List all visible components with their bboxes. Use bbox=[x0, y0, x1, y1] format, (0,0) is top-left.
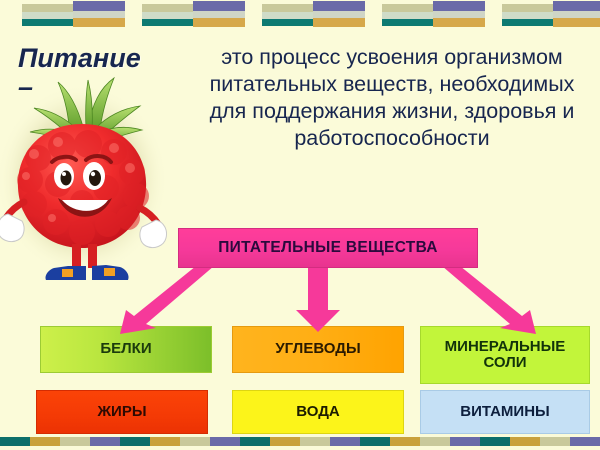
category-label-line2: СОЛИ bbox=[483, 354, 526, 371]
arrow-down-left-icon bbox=[120, 266, 214, 334]
category-label: БЕЛКИ bbox=[100, 341, 151, 357]
category-label: ВИТАМИНЫ bbox=[460, 404, 549, 420]
connector-arrows bbox=[0, 258, 600, 334]
border-tile bbox=[0, 437, 120, 446]
slide-title-block: Питание – bbox=[18, 44, 186, 101]
category-box-fats[interactable]: ЖИРЫ bbox=[36, 390, 208, 434]
category-box-mineral-salts[interactable]: МИНЕРАЛЬНЫЕ СОЛИ bbox=[420, 326, 590, 384]
category-box-vitamins[interactable]: ВИТАМИНЫ bbox=[420, 390, 590, 434]
border-tile bbox=[480, 0, 600, 26]
category-label: УГЛЕВОДЫ bbox=[275, 341, 360, 357]
bottom-border-decoration bbox=[0, 437, 600, 448]
nutrients-header-box[interactable]: ПИТАТЕЛЬНЫЕ ВЕЩЕСТВА bbox=[178, 228, 478, 268]
category-box-water[interactable]: ВОДА bbox=[232, 390, 404, 434]
border-tile bbox=[480, 437, 600, 446]
page-title: Питание bbox=[18, 44, 186, 72]
border-tile bbox=[0, 0, 120, 26]
category-label-line1: МИНЕРАЛЬНЫЕ bbox=[445, 338, 566, 355]
category-label: ЖИРЫ bbox=[97, 404, 146, 420]
border-tile bbox=[360, 437, 480, 446]
top-border-decoration bbox=[0, 0, 600, 30]
title-dash: – bbox=[18, 74, 186, 101]
border-tile bbox=[240, 0, 360, 26]
arrow-down-icon bbox=[296, 264, 340, 332]
arrow-down-right-icon bbox=[442, 266, 536, 334]
nutrients-header-label: ПИТАТЕЛЬНЫЕ ВЕЩЕСТВА bbox=[218, 239, 438, 257]
slide-canvas: Питание – это процесс усвоения организмо… bbox=[0, 0, 600, 450]
border-tile bbox=[240, 437, 360, 446]
border-tile bbox=[120, 437, 240, 446]
border-tile bbox=[360, 0, 480, 26]
category-label: МИНЕРАЛЬНЫЕ СОЛИ bbox=[445, 339, 566, 371]
raspberry-mascot-icon bbox=[0, 72, 168, 284]
definition-text: это процесс усвоения организмом питатель… bbox=[196, 44, 588, 152]
category-label: ВОДА bbox=[296, 404, 339, 420]
border-tile bbox=[120, 0, 240, 26]
